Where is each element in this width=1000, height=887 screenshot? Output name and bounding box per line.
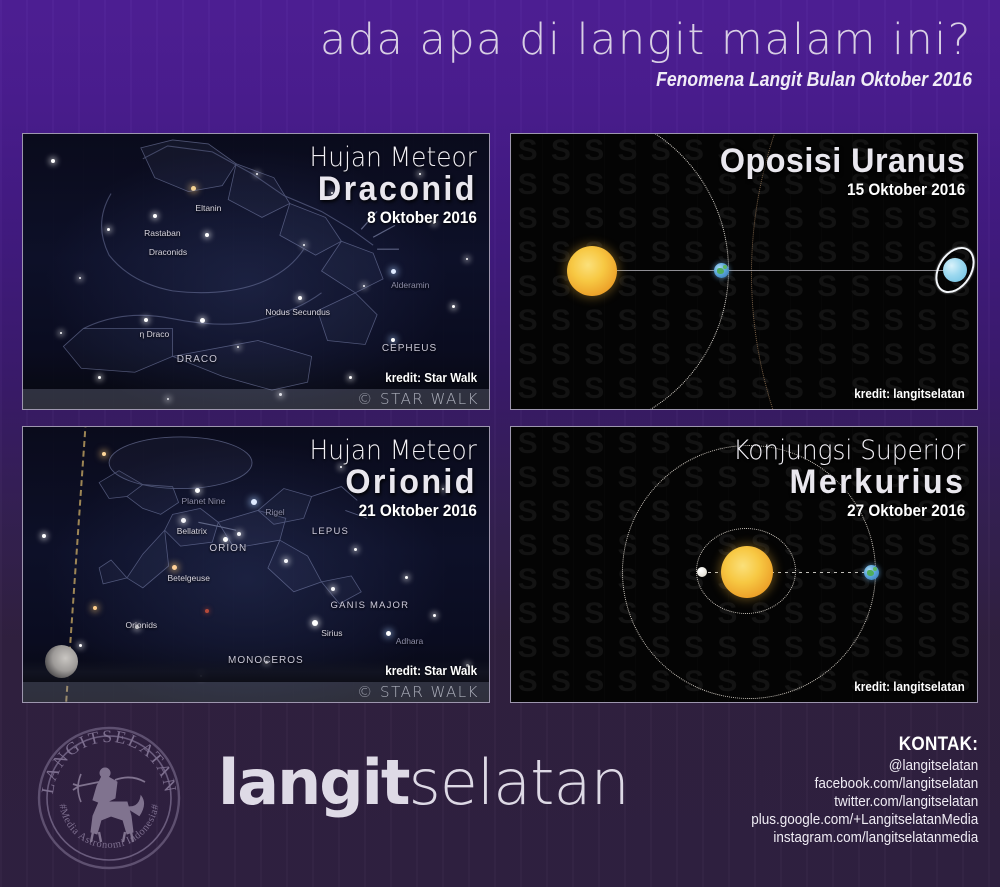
constellation-label: GANIS MAJOR bbox=[331, 600, 410, 611]
star-label: η Draco bbox=[140, 329, 170, 339]
star-label: Nodus Secundus bbox=[265, 307, 330, 317]
star-label: Planet Nine bbox=[181, 496, 225, 506]
panel-merkurius[interactable]: SSSSSSSSSSSSSS SSSSSSSSSSSSSS SSSSSSSSSS… bbox=[510, 426, 978, 703]
sun-body bbox=[721, 546, 773, 598]
panel-credit: kredit: Star Walk bbox=[385, 663, 477, 678]
page-title: ada apa di langit malam ini? bbox=[0, 18, 972, 63]
panel-eyebrow: Konjungsi Superior bbox=[733, 437, 965, 465]
panel-title-block: Hujan Meteor Orionid 21 Oktober 2016 bbox=[295, 437, 477, 521]
earth-body bbox=[864, 565, 879, 580]
contact-heading: KONTAK: bbox=[751, 734, 978, 756]
starwalk-watermark: © STAR WALK bbox=[357, 683, 479, 701]
panel-credit: kredit: langitselatan bbox=[854, 386, 965, 401]
constellation-label: ORION bbox=[209, 543, 247, 554]
sun-body bbox=[567, 246, 617, 296]
constellation-label: DRACO bbox=[177, 354, 218, 365]
starwalk-watermark: © STAR WALK bbox=[357, 390, 479, 408]
opposition-sight-line bbox=[611, 270, 961, 271]
earth-body bbox=[714, 263, 729, 278]
panel-date: 27 Oktober 2016 bbox=[738, 501, 965, 521]
contact-instagram-handle[interactable]: @langitselatan bbox=[751, 757, 978, 774]
star-label: Bellatrix bbox=[177, 526, 207, 536]
panel-title: Oposisi Uranus bbox=[720, 144, 965, 178]
panel-uranus[interactable]: SSSSSSSSSSSSSS SSSSSSSSSSSSSS SSSSSSSSSS… bbox=[510, 133, 978, 410]
star-label: Orionids bbox=[126, 620, 158, 630]
panel-title-block: Hujan Meteor Draconid 8 Oktober 2016 bbox=[295, 144, 477, 228]
contact-facebook[interactable]: facebook.com/langitselatan bbox=[751, 775, 978, 792]
contact-googleplus[interactable]: plus.google.com/+LangitselatanMedia bbox=[751, 811, 978, 828]
panel-date: 21 Oktober 2016 bbox=[313, 501, 477, 521]
earth-orbit bbox=[510, 133, 729, 410]
constellation-label: MONOCEROS bbox=[228, 655, 304, 666]
star-label: Sirius bbox=[321, 628, 342, 638]
panel-grid: Eltanin Rastaban Draconids Nodus Secundu… bbox=[22, 133, 978, 703]
brand-wordmark: langitselatan bbox=[218, 752, 629, 814]
starwalk-watermark-bar: © STAR WALK bbox=[23, 389, 489, 409]
star-label: Draconids bbox=[149, 247, 187, 257]
contact-block: KONTAK: @langitselatan facebook.com/lang… bbox=[726, 734, 978, 846]
panel-orionid[interactable]: Planet Nine Rigel Bellatrix LEPUS ORION … bbox=[22, 426, 490, 703]
panel-eyebrow: Hujan Meteor bbox=[310, 144, 477, 172]
panel-date: 8 Oktober 2016 bbox=[313, 208, 477, 228]
poster-background: ada apa di langit malam ini? Fenomena La… bbox=[0, 0, 1000, 887]
star-label: Betelgeuse bbox=[167, 573, 210, 583]
poster-header: ada apa di langit malam ini? Fenomena La… bbox=[0, 18, 972, 92]
star-label: Eltanin bbox=[195, 203, 221, 213]
wordmark-bold: langit bbox=[218, 746, 409, 819]
contact-twitter[interactable]: twitter.com/langitselatan bbox=[751, 793, 978, 810]
panel-title: Merkurius bbox=[725, 465, 965, 499]
panel-title: Draconid bbox=[304, 172, 477, 206]
constellation-label: CEPHEUS bbox=[382, 343, 437, 354]
logo-emblem: LANGITSELATAN #Media Astronomi Indonesia… bbox=[35, 724, 183, 872]
panel-title-block: Konjungsi Superior Merkurius 27 Oktober … bbox=[713, 437, 965, 521]
star-label: Rigel bbox=[265, 507, 284, 517]
panel-draconid[interactable]: Eltanin Rastaban Draconids Nodus Secundu… bbox=[22, 133, 490, 410]
star-label: Adhara bbox=[396, 636, 423, 646]
constellation-label: LEPUS bbox=[312, 526, 349, 537]
langitselatan-logo[interactable]: LANGITSELATAN #Media Astronomi Indonesia… bbox=[35, 724, 183, 872]
panel-credit: kredit: Star Walk bbox=[385, 370, 477, 385]
moon-body bbox=[45, 645, 78, 678]
star-label: Rastaban bbox=[144, 228, 180, 238]
sagittarius-archer bbox=[73, 768, 145, 842]
mercury-body bbox=[697, 567, 707, 577]
contact-instagram[interactable]: instagram.com/langitselatanmedia bbox=[751, 829, 978, 846]
panel-eyebrow: Hujan Meteor bbox=[310, 437, 477, 465]
panel-credit: kredit: langitselatan bbox=[854, 679, 965, 694]
poster-footer: LANGITSELATAN #Media Astronomi Indonesia… bbox=[0, 712, 1000, 887]
panel-title: Orionid bbox=[304, 465, 477, 499]
starwalk-watermark-bar: © STAR WALK bbox=[23, 682, 489, 702]
star-label: Alderamin bbox=[391, 280, 429, 290]
panel-title-block: Oposisi Uranus 15 Oktober 2016 bbox=[707, 144, 965, 200]
wordmark-thin: selatan bbox=[409, 746, 629, 819]
panel-date: 15 Oktober 2016 bbox=[733, 180, 965, 200]
page-subtitle: Fenomena Langit Bulan Oktober 2016 bbox=[117, 69, 972, 92]
